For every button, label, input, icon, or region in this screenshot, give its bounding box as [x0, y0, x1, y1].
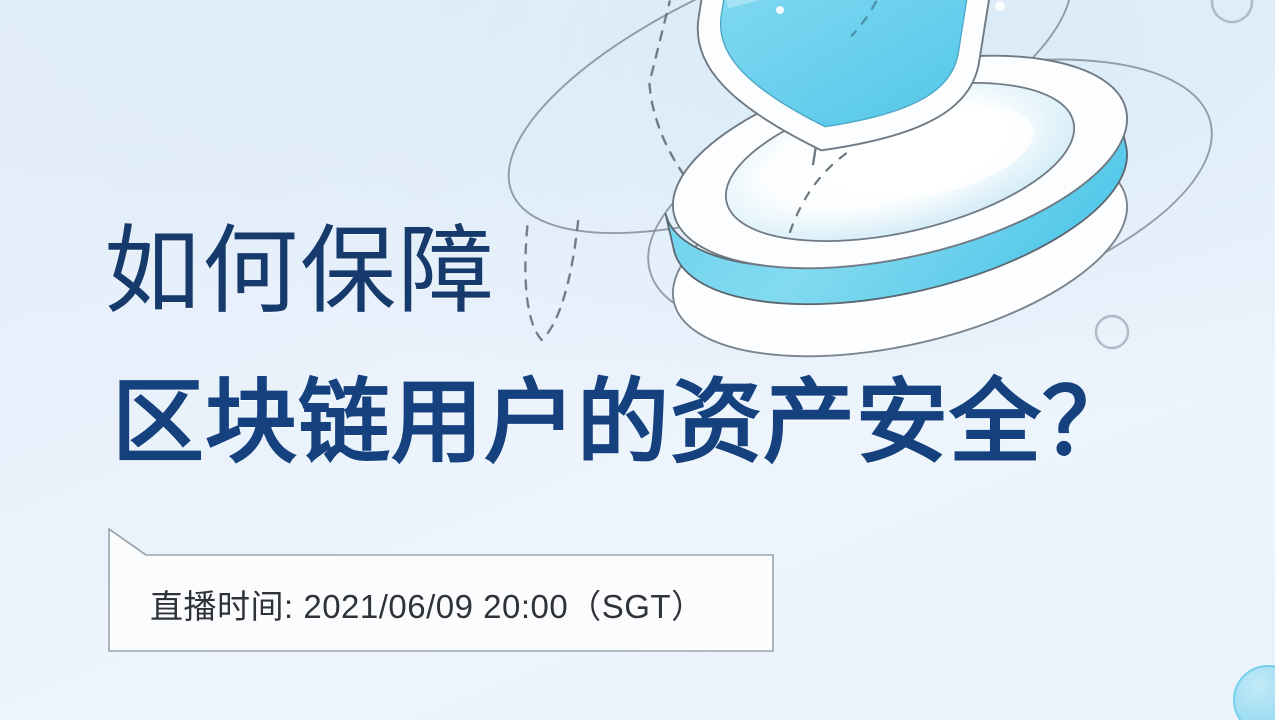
- headline-block: 如何保障 区块链用户的资产安全？: [104, 222, 1224, 472]
- disc-dash-marks: [790, 152, 848, 232]
- schedule-text: 直播时间: 2021/06/09 20:00（SGT）: [150, 580, 705, 628]
- headline-line-1: 如何保障: [104, 222, 1224, 322]
- schedule-panel: 直播时间: 2021/06/09 20:00（SGT）: [108, 528, 774, 652]
- shield-dash-marks: [852, 0, 903, 40]
- security-shield: [679, 0, 1005, 188]
- shield-tip-connector: [813, 147, 816, 165]
- shield-shine: [727, 0, 972, 40]
- headline-line-2: 区块链用户的资产安全？: [112, 376, 1224, 472]
- decor-bubble-bottom-right: [1234, 666, 1275, 720]
- shield-body: [707, 0, 983, 145]
- disc-highlight: [821, 88, 1043, 217]
- poster-canvas: 如何保障 区块链用户的资产安全？ 直播时间: 2021/06/09 20:00（…: [0, 0, 1275, 720]
- decor-circle-top-right: [1212, 0, 1252, 22]
- shield-outer-plate: [681, 0, 1004, 173]
- sparkle-dot-1: [776, 6, 784, 14]
- sparkle-dot-2: [995, 1, 1005, 11]
